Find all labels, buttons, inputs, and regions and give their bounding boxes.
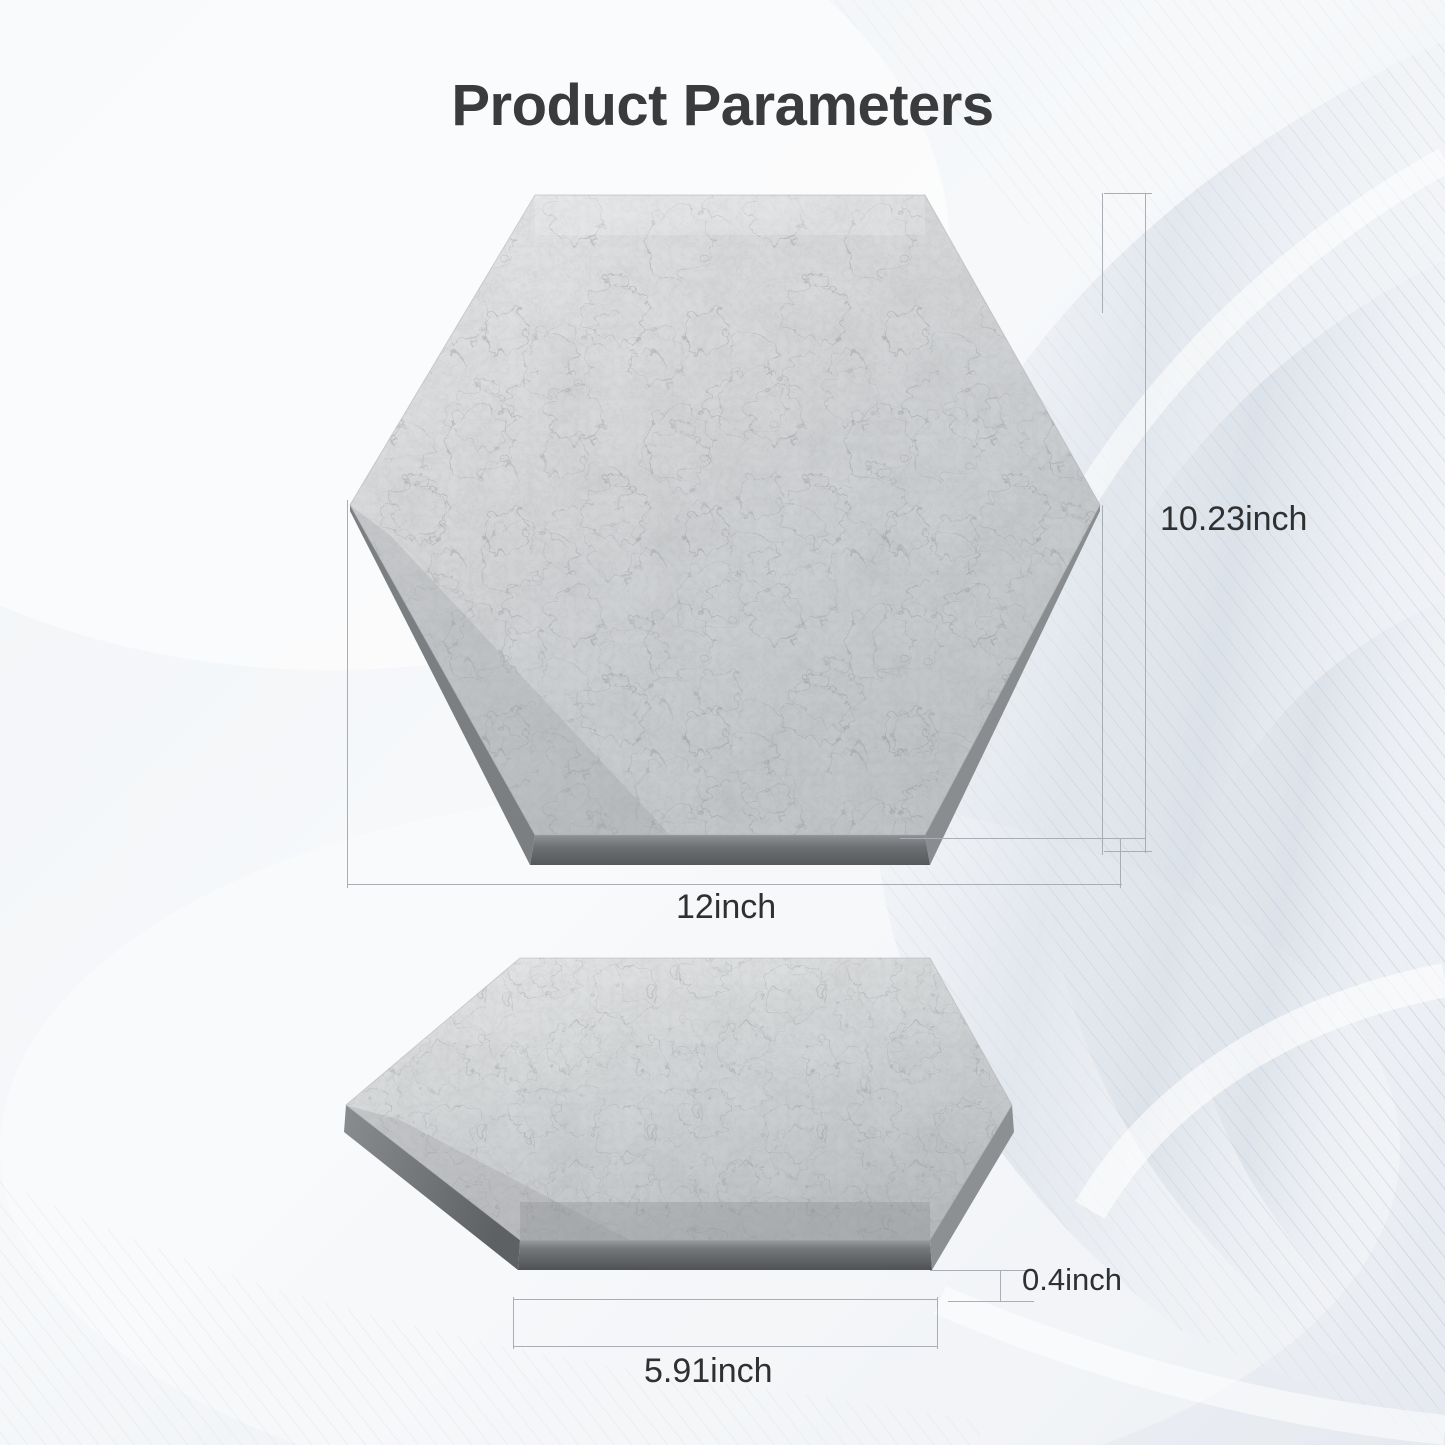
dim-ext-thickness-upper [930, 1270, 1000, 1271]
dim-label-thickness: 0.4inch [1022, 1262, 1122, 1298]
dim-label-width-591: 5.91inch [644, 1352, 773, 1391]
panel-side-face [530, 835, 930, 865]
panel-thickness-front [518, 1240, 932, 1270]
dim-line-width-12 [347, 884, 1122, 885]
dim-line-width-591 [513, 1346, 938, 1347]
dim-ext-right-vertex [1102, 505, 1103, 855]
dim-tick-thickness-bottom [948, 1301, 1034, 1302]
hexagon-acoustic-panel-perspective-view [330, 940, 1030, 1320]
hexagon-acoustic-panel-front-view [330, 175, 1130, 875]
dim-ext-right-591 [937, 1297, 938, 1349]
dim-ext-left-vertical [347, 500, 348, 888]
dim-line-baseline-591 [513, 1299, 938, 1300]
dim-ext-left-591 [513, 1297, 514, 1349]
dim-label-width-12: 12inch [676, 888, 776, 927]
dim-line-thickness [1000, 1270, 1001, 1302]
dim-ext-right-upper [1102, 193, 1103, 313]
dim-tick-baseline [900, 838, 1145, 839]
product-parameters-image: Product Parameters [0, 0, 1445, 1445]
dim-ext-right-vertical-12 [1120, 838, 1121, 888]
dim-label-height: 10.23inch [1160, 500, 1307, 539]
dim-line-height [1145, 193, 1146, 853]
page-title: Product Parameters [0, 72, 1445, 139]
